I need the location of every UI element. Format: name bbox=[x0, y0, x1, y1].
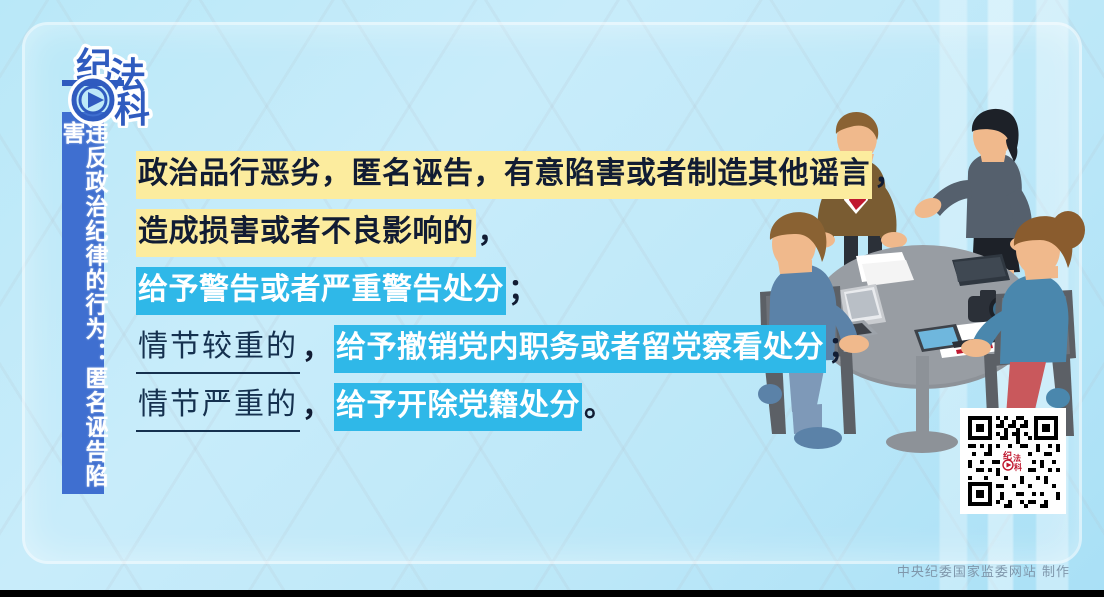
bottom-black-bar bbox=[0, 590, 1104, 597]
text-line-2-seg-2: ， bbox=[476, 213, 510, 253]
text-line-3-seg-2: ； bbox=[506, 271, 540, 311]
qr-code-matrix: 纪 法 科 bbox=[964, 412, 1062, 510]
text-line-3: 给予警告或者严重警告处分； bbox=[136, 262, 896, 320]
text-line-4-seg-3: 给予撤销党内职务或者留党察看处分 bbox=[334, 325, 826, 373]
text-line-4-seg-1: 情节较重的 bbox=[136, 324, 300, 374]
text-line-1-seg-2: ， bbox=[872, 155, 906, 195]
text-line-4-seg-2: ， bbox=[300, 329, 334, 369]
banner-text: 违反政治纪律的行为：匿名诬告陷害 bbox=[60, 121, 106, 494]
text-line-4-seg-4: ； bbox=[826, 329, 860, 369]
poster-canvas: 纪 法 科 纪 法 科 违反政治纪律的行为：匿名诬告陷害 bbox=[0, 0, 1104, 590]
text-line-4: 情节较重的，给予撤销党内职务或者留党察看处分； bbox=[136, 320, 896, 378]
svg-text:科: 科 bbox=[114, 89, 150, 128]
text-line-1: 政治品行恶劣，匿名诬告，有意陷害或者制造其他谣言， bbox=[136, 146, 896, 204]
text-line-5-seg-3: 给予开除党籍处分 bbox=[334, 383, 582, 431]
text-line-5-seg-1: 情节严重的 bbox=[136, 382, 300, 432]
footer-credit: 中央纪委国家监委网站 制作 bbox=[897, 561, 1070, 580]
hair-bun-icon bbox=[1051, 211, 1085, 249]
text-line-1-seg-1: 政治品行恶劣，匿名诬告，有意陷害或者制造其他谣言 bbox=[136, 151, 872, 199]
text-line-2: 造成损害或者不良影响的， bbox=[136, 204, 896, 262]
text-line-2-seg-1: 造成损害或者不良影响的 bbox=[136, 209, 476, 257]
text-line-5: 情节严重的，给予开除党籍处分。 bbox=[136, 378, 896, 436]
main-text-block: 政治品行恶劣，匿名诬告，有意陷害或者制造其他谣言， 造成损害或者不良影响的， 给… bbox=[136, 146, 896, 436]
vertical-topic-banner: 违反政治纪律的行为：匿名诬告陷害 bbox=[62, 112, 104, 494]
qr-center-logo: 纪 法 科 bbox=[1000, 448, 1026, 474]
text-line-3-seg-1: 给予警告或者严重警告处分 bbox=[136, 267, 506, 315]
qr-code[interactable]: 纪 法 科 bbox=[960, 408, 1066, 514]
text-line-5-seg-2: ， bbox=[300, 387, 334, 427]
text-line-5-seg-4: 。 bbox=[582, 387, 616, 427]
jifake-logo: 纪 法 科 纪 法 科 bbox=[52, 36, 164, 128]
svg-text:科: 科 bbox=[1014, 462, 1022, 472]
